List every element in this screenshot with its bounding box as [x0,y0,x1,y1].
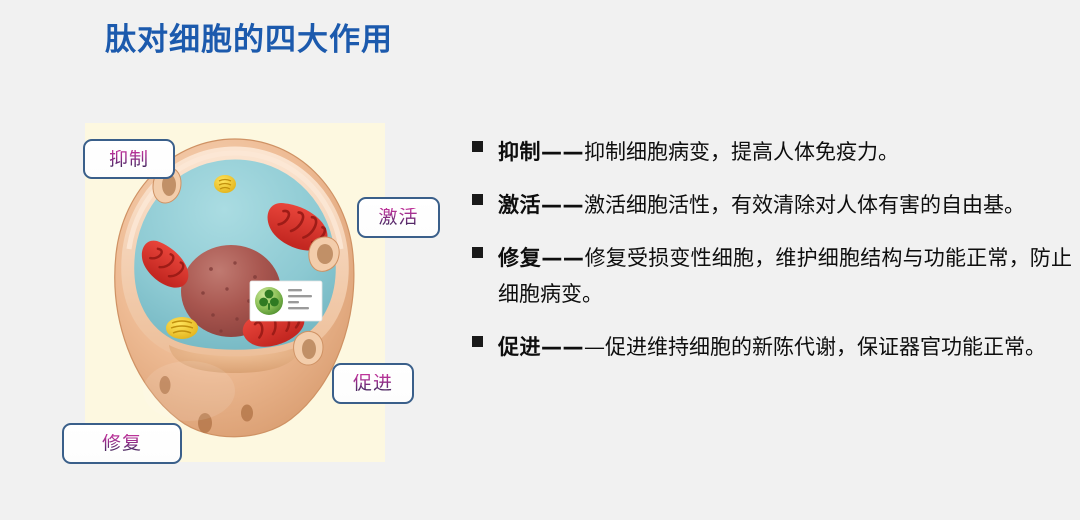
callout-label-jihuo[interactable]: 激活 [357,197,440,238]
list-item-keyword: 促进—— [498,335,584,359]
vesicle-top [214,175,236,193]
bullet-square-icon [472,141,483,152]
bullet-square-icon [472,194,483,205]
callout-label-cujin-text: 促进 [353,374,393,393]
list-item-description: 激活细胞活性，有效清除对人体有害的自由基。 [584,193,1025,217]
list-item-text: 激活——激活细胞活性，有效清除对人体有害的自由基。 [498,187,1072,223]
bullet-square-icon [472,247,483,258]
list-item: 修复——修复受损变性细胞，维护细胞结构与功能正常，防止细胞病变。 [472,240,1072,312]
membrane-pore-bottom-right [294,331,323,365]
list-item-description: 抑制细胞病变，提高人体免疫力。 [584,140,899,164]
callout-label-yizhi-text: 抑制 [109,150,149,169]
list-item-text: 促进———促进维持细胞的新陈代谢，保证器官功能正常。 [498,329,1072,365]
golgi-apparatus [166,317,198,339]
cell-body [115,139,354,437]
list-item-text: 修复——修复受损变性细胞，维护细胞结构与功能正常，防止细胞病变。 [498,240,1072,312]
callout-label-yizhi[interactable]: 抑制 [83,139,175,179]
list-item-description: —促进维持细胞的新陈代谢，保证器官功能正常。 [584,335,1046,359]
list-item: 激活——激活细胞活性，有效清除对人体有害的自由基。 [472,187,1072,223]
list-item-text: 抑制——抑制细胞病变，提高人体免疫力。 [498,134,1072,170]
page-title: 肽对细胞的四大作用 [105,14,393,59]
list-item: 促进———促进维持细胞的新陈代谢，保证器官功能正常。 [472,329,1072,365]
callout-label-jihuo-text: 激活 [378,208,418,227]
list-item-description: 修复受损变性细胞，维护细胞结构与功能正常，防止细胞病变。 [498,246,1072,306]
bullet-square-icon [472,336,483,347]
list-item: 抑制——抑制细胞病变，提高人体免疫力。 [472,134,1072,170]
product-card [250,281,322,321]
list-item-keyword: 修复—— [498,246,584,270]
list-item-keyword: 抑制—— [498,140,584,164]
list-item-keyword: 激活—— [498,193,584,217]
callout-label-xiufu-text: 修复 [102,434,142,453]
effects-bullet-list: 抑制——抑制细胞病变，提高人体免疫力。 激活——激活细胞活性，有效清除对人体有害… [472,134,1072,383]
callout-label-xiufu[interactable]: 修复 [62,423,182,464]
callout-label-cujin[interactable]: 促进 [332,363,414,404]
